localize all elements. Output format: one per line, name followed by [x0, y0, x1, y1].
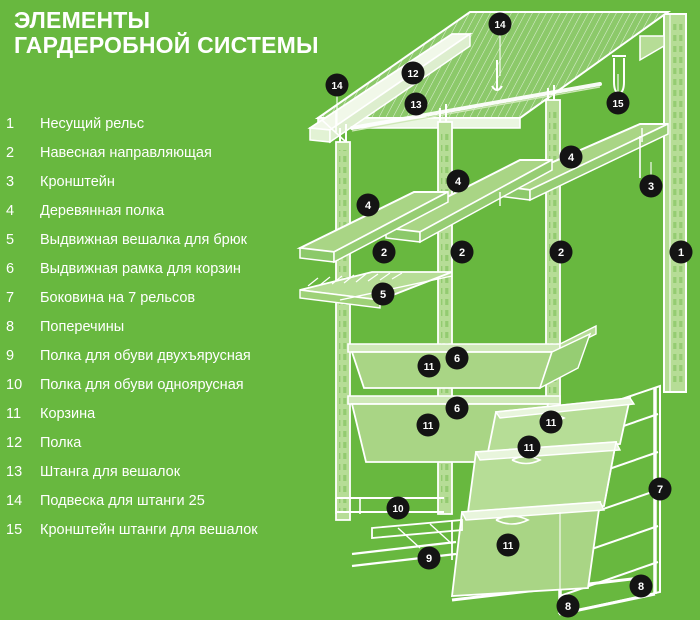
legend-item-number: 10 — [6, 371, 30, 400]
legend-item-label: Корзина — [40, 400, 95, 429]
legend-item-2: 2Навесная направляющая — [0, 139, 300, 168]
callout-number: 1 — [678, 247, 684, 259]
legend-item-7: 7Боковина на 7 рельсов — [0, 284, 300, 313]
legend-item-1: 1Несущий рельс — [0, 110, 300, 139]
callout-3: 3 — [640, 175, 663, 198]
callout-6: 6 — [446, 347, 469, 370]
callout-8: 8 — [557, 595, 580, 618]
callout-1: 1 — [670, 241, 693, 264]
callout-number: 11 — [503, 541, 514, 552]
legend-item-label: Несущий рельс — [40, 110, 144, 139]
callout-number: 3 — [648, 181, 654, 193]
legend-item-15: 15Кронштейн штанги для вешалок — [0, 516, 300, 545]
load-rail-group — [664, 14, 686, 392]
callout-11: 11 — [497, 534, 520, 557]
legend-item-5: 5Выдвижная вешалка для брюк — [0, 226, 300, 255]
callout-14: 14 — [326, 74, 349, 97]
callout-number: 8 — [638, 581, 644, 593]
callout-11: 11 — [417, 414, 440, 437]
callout-5: 5 — [372, 283, 395, 306]
callout-14: 14 — [489, 13, 512, 36]
legend-item-label: Полка для обуви одноярусная — [40, 371, 244, 400]
callout-10: 10 — [387, 497, 410, 520]
legend-item-12: 12Полка — [0, 429, 300, 458]
legend-item-13: 13Штанга для вешалок — [0, 458, 300, 487]
legend-item-number: 7 — [6, 284, 30, 313]
legend-item-number: 8 — [6, 313, 30, 342]
callout-number: 2 — [558, 247, 564, 259]
legend-item-number: 2 — [6, 139, 30, 168]
callout-number: 12 — [407, 69, 419, 80]
legend-item-number: 6 — [6, 255, 30, 284]
legend-item-label: Выдвижная рамка для корзин — [40, 255, 241, 284]
callout-2: 2 — [550, 241, 573, 264]
legend-item-number: 1 — [6, 110, 30, 139]
callout-number: 11 — [423, 421, 434, 432]
callout-number: 11 — [424, 362, 435, 373]
callout-number: 6 — [454, 403, 460, 415]
callout-13: 13 — [405, 93, 428, 116]
legend-item-3: 3Кронштейн — [0, 168, 300, 197]
callout-2: 2 — [373, 241, 396, 264]
legend-item-label: Штанга для вешалок — [40, 458, 180, 487]
legend-item-4: 4Деревянная полка — [0, 197, 300, 226]
callout-4: 4 — [357, 194, 380, 217]
legend-item-9: 9Полка для обуви двухъярусная — [0, 342, 300, 371]
legend-item-label: Деревянная полка — [40, 197, 164, 226]
legend-item-number: 4 — [6, 197, 30, 226]
callout-11: 11 — [518, 436, 541, 459]
legend-item-14: 14Подвеска для штанги 25 — [0, 487, 300, 516]
legend-item-8: 8Поперечины — [0, 313, 300, 342]
title-line-1: ЭЛЕМЕНТЫ — [14, 8, 414, 33]
legend-item-number: 14 — [6, 487, 30, 516]
callout-4: 4 — [447, 170, 470, 193]
legend-item-11: 11Корзина — [0, 400, 300, 429]
callout-number: 11 — [524, 443, 535, 454]
callout-number: 15 — [612, 99, 624, 110]
callout-7: 7 — [649, 478, 672, 501]
callout-11: 11 — [540, 411, 563, 434]
callout-6: 6 — [446, 397, 469, 420]
legend-item-label: Поперечины — [40, 313, 124, 342]
callout-12: 12 — [402, 62, 425, 85]
callout-number: 2 — [459, 247, 465, 259]
callout-number: 7 — [657, 484, 663, 496]
title-line-2: ГАРДЕРОБНОЙ СИСТЕМЫ — [14, 33, 414, 58]
callout-number: 2 — [381, 247, 387, 259]
legend-item-label: Навесная направляющая — [40, 139, 212, 168]
legend-item-number: 13 — [6, 458, 30, 487]
legend-list: 1Несущий рельс2Навесная направляющая3Кро… — [0, 110, 300, 545]
callout-number: 14 — [331, 81, 343, 92]
legend-item-10: 10Полка для обуви одноярусная — [0, 371, 300, 400]
callout-number: 4 — [455, 176, 462, 188]
legend-item-number: 12 — [6, 429, 30, 458]
legend-item-number: 3 — [6, 168, 30, 197]
legend-item-label: Полка — [40, 429, 81, 458]
infographic-root: 1412141315443412225116611111171011988 ЭЛ… — [0, 0, 700, 620]
callout-15: 15 — [607, 92, 630, 115]
callout-number: 6 — [454, 353, 460, 365]
callout-number: 13 — [410, 100, 422, 111]
callout-number: 9 — [426, 553, 432, 565]
callout-number: 5 — [380, 289, 386, 301]
legend-item-number: 15 — [6, 516, 30, 545]
callout-number: 14 — [494, 20, 506, 31]
legend-item-label: Подвеска для штанги 25 — [40, 487, 205, 516]
legend-item-label: Кронштейн — [40, 168, 115, 197]
legend-item-label: Кронштейн штанги для вешалок — [40, 516, 258, 545]
callout-2: 2 — [451, 241, 474, 264]
callout-11: 11 — [418, 355, 441, 378]
legend-item-number: 11 — [6, 400, 30, 429]
callout-number: 10 — [392, 504, 404, 515]
callout-number: 11 — [546, 418, 557, 429]
legend-item-number: 5 — [6, 226, 30, 255]
legend-item-label: Полка для обуви двухъярусная — [40, 342, 251, 371]
legend-item-number: 9 — [6, 342, 30, 371]
legend-item-label: Выдвижная вешалка для брюк — [40, 226, 247, 255]
legend-item-6: 6Выдвижная рамка для корзин — [0, 255, 300, 284]
callout-8: 8 — [630, 575, 653, 598]
callout-number: 4 — [568, 152, 575, 164]
callout-number: 4 — [365, 200, 372, 212]
legend-item-label: Боковина на 7 рельсов — [40, 284, 195, 313]
callout-4: 4 — [560, 146, 583, 169]
callout-number: 8 — [565, 601, 571, 613]
callout-9: 9 — [418, 547, 441, 570]
page-title: ЭЛЕМЕНТЫ ГАРДЕРОБНОЙ СИСТЕМЫ — [14, 8, 414, 58]
